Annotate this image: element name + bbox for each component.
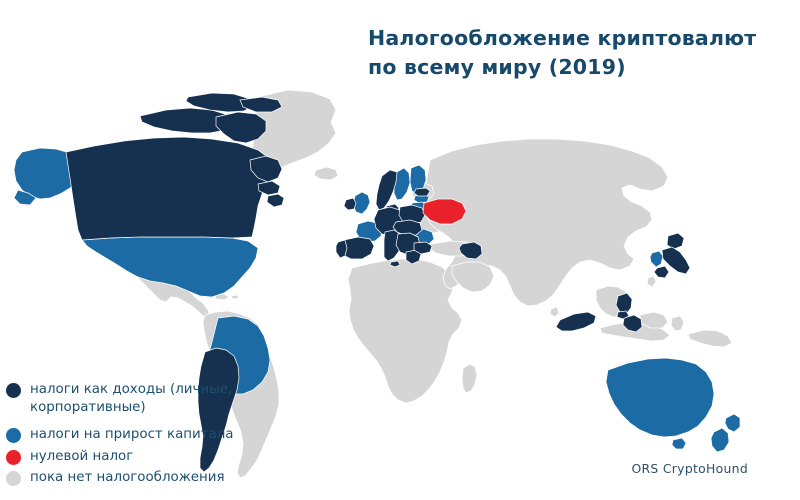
legend-label-no-tax-yet: пока нет налогообложения xyxy=(30,469,225,487)
region-singapore-malaysia xyxy=(556,312,596,331)
region-sri-lanka xyxy=(550,307,559,317)
legend-swatch-circle-icon xyxy=(6,428,21,443)
legend-label-zero-tax: нулевой налог xyxy=(30,448,133,466)
region-arabia xyxy=(452,262,494,292)
legend-item-capital-gains: налоги на прирост капитала xyxy=(6,426,258,444)
legend-item-income-tax: налоги как доходы (личные, корпоративные… xyxy=(6,381,258,417)
region-japan-hokkaido xyxy=(667,233,684,249)
title-block: Налогообложение криптовалют по всему мир… xyxy=(368,24,768,82)
region-australia xyxy=(606,358,714,437)
region-iceland xyxy=(314,167,338,180)
region-ireland xyxy=(344,198,356,210)
legend-swatch-circle-icon xyxy=(6,471,21,486)
region-new-zealand-north xyxy=(725,414,740,432)
region-portugal xyxy=(336,240,347,258)
region-canada-baffin xyxy=(216,112,266,143)
legend-swatch-circle-icon xyxy=(6,450,21,465)
infographic-root: Налогообложение криптовалют по всему мир… xyxy=(0,0,800,500)
region-puerto-rico xyxy=(231,295,239,299)
legend-label-income-tax: налоги как доходы (личные, корпоративные… xyxy=(30,381,232,417)
page-title: Налогообложение криптовалют по всему мир… xyxy=(368,24,768,82)
region-sulawesi xyxy=(671,316,684,331)
legend-label-capital-gains: налоги на прирост капитала xyxy=(30,426,234,444)
legend: налоги как доходы (личные, корпоративные… xyxy=(6,381,258,490)
region-canada xyxy=(66,137,272,240)
region-south-korea xyxy=(650,251,663,267)
region-estonia xyxy=(414,188,430,196)
legend-item-no-tax-yet: пока нет налогообложения xyxy=(6,469,258,487)
source-credit: ORS CryptoHound xyxy=(631,461,748,476)
region-new-zealand-south xyxy=(711,428,729,452)
region-newfoundland xyxy=(267,194,284,207)
region-new-guinea xyxy=(688,330,732,347)
legend-item-zero-tax: нулевой налог xyxy=(6,448,258,466)
region-tasmania xyxy=(672,438,686,449)
region-taiwan xyxy=(647,276,656,287)
region-madagascar xyxy=(462,364,477,393)
legend-swatch-circle-icon xyxy=(6,383,21,398)
region-japan-kyushu xyxy=(654,266,669,278)
